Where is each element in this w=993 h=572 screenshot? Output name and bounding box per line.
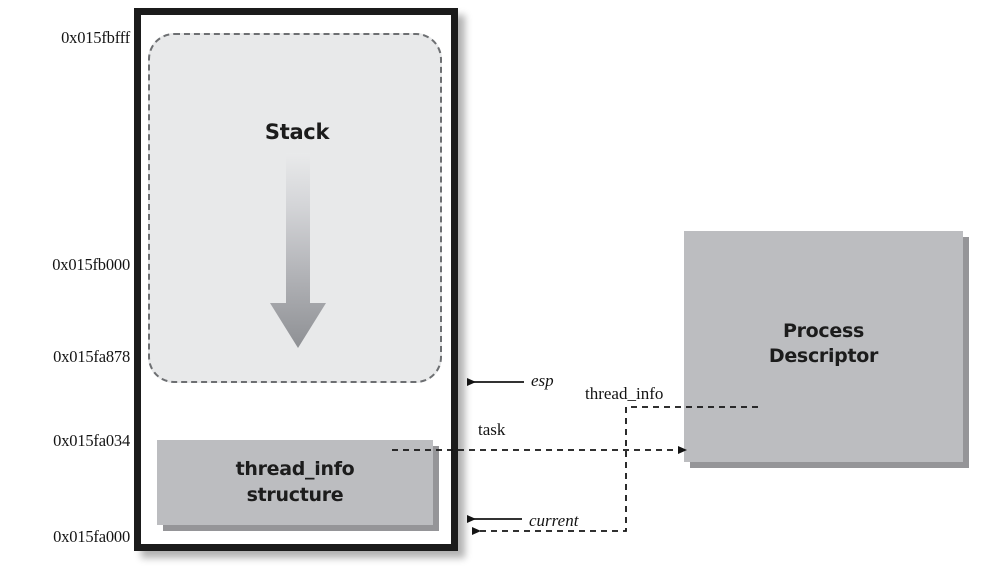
process-descriptor-line2: Descriptor xyxy=(769,345,878,367)
stack-label: Stack xyxy=(150,120,444,144)
address-label-thread-info-top: 0x015fa034 xyxy=(0,431,130,451)
process-descriptor-box: Process Descriptor xyxy=(684,231,963,462)
process-descriptor-line1: Process xyxy=(783,320,864,342)
thread-info-structure-label: thread_info structure xyxy=(157,456,433,508)
task-label: task xyxy=(478,420,505,440)
diagram-canvas: 0x015fbfff 0x015fb000 0x015fa878 0x015fa… xyxy=(0,0,993,572)
stack-region: Stack xyxy=(148,33,442,383)
thread-info-connector-label: thread_info xyxy=(585,384,663,404)
current-label: current xyxy=(529,511,578,531)
address-label-esp: 0x015fa878 xyxy=(0,347,130,367)
address-label-stack-mid: 0x015fb000 xyxy=(0,255,130,275)
address-label-stack-top: 0x015fbfff xyxy=(0,28,130,48)
thread-info-structure-box: thread_info structure xyxy=(157,440,433,525)
thread-info-line1: thread_info xyxy=(236,458,355,480)
process-descriptor-label: Process Descriptor xyxy=(684,319,963,369)
thread-info-line2: structure xyxy=(247,484,344,506)
address-label-thread-info-bottom: 0x015fa000 xyxy=(0,527,130,547)
esp-label: esp xyxy=(531,371,554,391)
stack-growth-arrow-icon xyxy=(270,153,326,348)
